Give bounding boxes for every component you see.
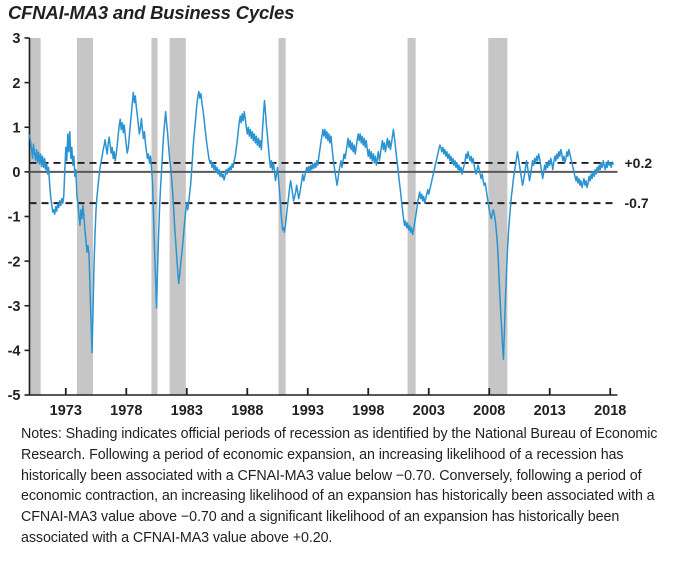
reference-lines-group: [30, 163, 618, 203]
x-axis-tick-label: 1978: [110, 403, 142, 415]
threshold-label: -0.7: [625, 195, 649, 211]
y-axis-tick-label: 2: [12, 76, 20, 92]
cfnai-line-chart: 3210-1-2-3-4-5 1973197819831988199319982…: [0, 30, 680, 415]
threshold-labels-group: +0.2-0.7: [625, 155, 653, 211]
x-axis-tick-label: 2013: [534, 403, 566, 415]
y-axis-tick-label: -3: [8, 299, 21, 315]
x-axis-tick-label: 1998: [352, 403, 384, 415]
recession-band: [151, 38, 157, 395]
recession-band: [408, 38, 416, 395]
y-axis-tick-label: 3: [12, 31, 20, 47]
recession-band: [29, 38, 41, 395]
recession-bands-group: [29, 38, 508, 395]
y-axis-tick-label: 0: [12, 165, 20, 181]
x-axis-tick-label: 1983: [171, 403, 203, 415]
y-axis-tick-label: -5: [8, 388, 21, 404]
series-group: [30, 92, 614, 360]
axes-group: [30, 38, 618, 395]
y-axis-tick-label: 1: [12, 120, 20, 136]
x-ticks-group: 1973197819831988199319982003200820132018: [50, 388, 627, 415]
page-title: CFNAI-MA3 and Business Cycles: [8, 2, 294, 24]
y-axis-tick-label: -1: [8, 210, 21, 226]
figure-root: CFNAI-MA3 and Business Cycles 3210-1-2-3…: [0, 0, 680, 578]
y-axis-tick-label: -4: [8, 344, 21, 360]
x-axis-tick-label: 2003: [413, 403, 445, 415]
x-axis-tick-label: 1993: [292, 403, 324, 415]
x-axis-tick-label: 2008: [473, 403, 505, 415]
x-axis-tick-label: 1973: [50, 403, 82, 415]
x-axis-tick-label: 2018: [594, 403, 626, 415]
recession-band: [170, 38, 186, 395]
cfnai-ma3-series-line: [30, 92, 614, 360]
y-axis-tick-label: -2: [8, 254, 21, 270]
chart-canvas: 3210-1-2-3-4-5 1973197819831988199319982…: [0, 30, 680, 415]
figure-notes: Notes: Shading indicates official period…: [21, 424, 669, 549]
x-axis-tick-label: 1988: [231, 403, 263, 415]
y-ticks-group: 3210-1-2-3-4-5: [8, 31, 30, 404]
threshold-label: +0.2: [625, 155, 653, 171]
